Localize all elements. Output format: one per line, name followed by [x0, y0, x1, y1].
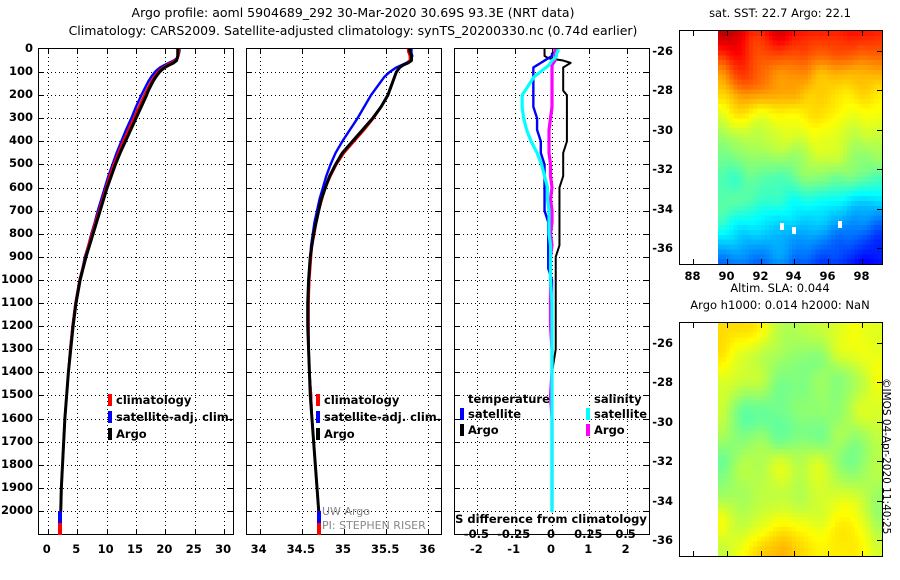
- depth-tick-2000: 2000: [0, 503, 33, 517]
- temperature-profile-plot: [39, 49, 233, 534]
- legend-label-p2-2: Argo: [324, 427, 355, 441]
- depth-tick-300: 300: [0, 110, 33, 124]
- sst-lat-tick--26: -26: [640, 44, 673, 58]
- surface-marker-blue-p1: [58, 511, 62, 523]
- sst-lon-tick-94: 94: [776, 269, 812, 283]
- legend-swatch-p3-s-0: [586, 408, 590, 420]
- legend-label-p1-2: Argo: [116, 427, 147, 441]
- sla-lat-tick--34: -34: [640, 494, 673, 508]
- pi-label: PI: STEPHEN RISER: [322, 519, 426, 532]
- legend-label-p1-1: satellite-adj. clim.: [116, 410, 233, 424]
- surface-marker-red-p1: [58, 523, 62, 535]
- depth-tick-100: 100: [0, 64, 33, 78]
- salinity-tick-34: 34: [237, 542, 281, 556]
- legend-label-p3-s-1: Argo: [594, 423, 625, 437]
- legend-swatch-p2-2: [316, 428, 320, 440]
- depth-tick-900: 900: [0, 249, 33, 263]
- sst-lon-tick-96: 96: [810, 269, 846, 283]
- sla-lat-tick--32: -32: [640, 454, 673, 468]
- sst-map-image: [680, 31, 882, 264]
- sla-map-header-line2: Argo h1000: 0.014 h2000: NaN: [660, 298, 900, 312]
- depth-tick-1500: 1500: [0, 387, 33, 401]
- legend-swatch-p3-t-0: [460, 408, 464, 420]
- difference-profile-plot: [455, 49, 649, 534]
- depth-tick-0: 0: [0, 41, 33, 55]
- depth-tick-1600: 1600: [0, 411, 33, 425]
- legend-label-p3-t-0: satellite: [468, 407, 521, 421]
- sla-lat-tick--36: -36: [640, 533, 673, 547]
- depth-tick-800: 800: [0, 226, 33, 240]
- t-difference-tick-1: 1: [570, 542, 606, 556]
- legend-swatch-p2-0: [316, 394, 320, 406]
- depth-tick-700: 700: [0, 203, 33, 217]
- depth-tick-500: 500: [0, 156, 33, 170]
- legend-swatch-p1-0: [108, 394, 112, 406]
- sla-map-header-line1: Altim. SLA: 0.044: [660, 281, 900, 295]
- s-difference-tick--0.25: -0.25: [494, 527, 534, 541]
- sst-lat-tick--32: -32: [640, 162, 673, 176]
- legend-label-p2-0: climatology: [324, 393, 399, 407]
- legend-swatch-p3-s-1: [586, 424, 590, 436]
- depth-tick-1000: 1000: [0, 272, 33, 286]
- legend-header-temperature: temperature: [468, 392, 550, 406]
- sst-map-header: sat. SST: 22.7 Argo: 22.1: [660, 6, 900, 20]
- surface-marker-blue-p2: [317, 511, 321, 523]
- difference-profile-panel: [454, 48, 650, 535]
- salinity-profile-panel: [246, 48, 442, 535]
- salinity-tick-35.5: 35.5: [363, 542, 407, 556]
- s-difference-tick-0.25: 0.25: [568, 527, 608, 541]
- sla-map-image: [680, 323, 882, 556]
- depth-tick-1300: 1300: [0, 341, 33, 355]
- depth-tick-400: 400: [0, 133, 33, 147]
- legend-label-p1-0: climatology: [116, 393, 191, 407]
- sla-lat-tick--28: -28: [640, 375, 673, 389]
- legend-swatch-p1-2: [108, 428, 112, 440]
- t-difference-tick-2: 2: [608, 542, 644, 556]
- copyright-label: ©IMOS 04-Apr-2020 11:40:25: [880, 378, 892, 394]
- legend-label-p3-t-1: Argo: [468, 423, 499, 437]
- sst-lon-tick-88: 88: [675, 269, 711, 283]
- sst-lat-tick--28: -28: [640, 83, 673, 97]
- depth-tick-600: 600: [0, 180, 33, 194]
- surface-marker-red-p2: [317, 523, 321, 535]
- sst-lat-tick--34: -34: [640, 202, 673, 216]
- legend-label-p2-1: satellite-adj. clim.: [324, 410, 441, 424]
- sst-lat-tick--36: -36: [640, 241, 673, 255]
- sst-lon-tick-92: 92: [743, 269, 779, 283]
- t-difference-tick--1: -1: [496, 542, 532, 556]
- depth-tick-1700: 1700: [0, 434, 33, 448]
- temperature-profile-panel: [38, 48, 234, 535]
- s-difference-axis-label: S difference from climatology: [454, 512, 648, 526]
- sst-lat-tick--30: -30: [640, 123, 673, 137]
- t-difference-tick-0: 0: [533, 542, 569, 556]
- salinity-tick-36: 36: [405, 542, 449, 556]
- s-difference-tick--0.5: -0.5: [456, 527, 496, 541]
- sst-lon-tick-90: 90: [709, 269, 745, 283]
- depth-tick-1400: 1400: [0, 364, 33, 378]
- legend-header-salinity: salinity: [594, 392, 642, 406]
- sst-map-panel: [679, 30, 883, 265]
- depth-tick-1100: 1100: [0, 295, 33, 309]
- salinity-profile-plot: [247, 49, 441, 534]
- depth-tick-1800: 1800: [0, 457, 33, 471]
- salinity-tick-34.5: 34.5: [279, 542, 323, 556]
- t-difference-tick--2: -2: [458, 542, 494, 556]
- depth-tick-1200: 1200: [0, 318, 33, 332]
- depth-tick-1900: 1900: [0, 480, 33, 494]
- legend-swatch-p2-1: [316, 411, 320, 423]
- sla-lat-tick--26: -26: [640, 336, 673, 350]
- sst-lon-tick-98: 98: [844, 269, 880, 283]
- page-title-line2: Climatology: CARS2009. Satellite-adjuste…: [0, 23, 706, 38]
- program-label: UW Argo: [322, 505, 370, 518]
- legend-swatch-p1-1: [108, 411, 112, 423]
- salinity-tick-35: 35: [321, 542, 365, 556]
- s-difference-tick-0: 0: [531, 527, 571, 541]
- sla-lat-tick--30: -30: [640, 415, 673, 429]
- legend-swatch-p3-t-1: [460, 424, 464, 436]
- depth-tick-200: 200: [0, 87, 33, 101]
- sla-map-panel: [679, 322, 883, 557]
- page-title-line1: Argo profile: aoml 5904689_292 30-Mar-20…: [0, 5, 706, 20]
